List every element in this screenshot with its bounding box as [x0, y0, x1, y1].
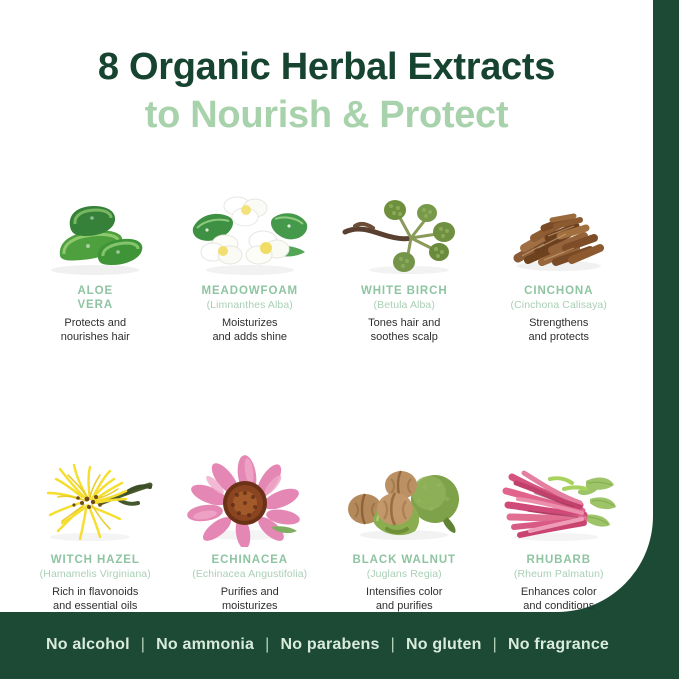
extract-name: BLACK WALNUT [353, 554, 456, 568]
extract-card-cinchona: CINCHONA (Cinchona Calisaya) Strengthens… [482, 186, 637, 344]
extract-latin-name: (Betula Alba) [374, 299, 435, 312]
extract-name: RHUBARB [527, 554, 591, 568]
extract-card-rhubarb: RHUBARB (Rheum Palmatun) Enhances color … [482, 455, 637, 613]
extract-name-line-2: VERA [77, 299, 113, 311]
extract-latin-name: (Limnanthes Alba) [207, 299, 293, 312]
extract-desc-line-2: and protects [528, 331, 589, 343]
extract-name: ALOE VERA [77, 285, 113, 312]
claim-separator: | [380, 636, 406, 654]
aloe-vera-icon [30, 186, 160, 278]
extract-desc-line-1: Rich in flavonoids [52, 586, 138, 598]
claim-no-fragrance: No fragrance [508, 636, 609, 654]
extracts-row-2: WITCH HAZEL (Hamamelis Virginiana) Rich … [18, 455, 636, 613]
title-line-2: to Nourish & Protect [0, 90, 653, 140]
claim-no-gluten: No gluten [406, 636, 482, 654]
extract-name: WHITE BIRCH [361, 285, 448, 299]
extract-desc-line-2: and adds shine [212, 331, 287, 343]
extract-name-line-1: BLACK WALNUT [353, 554, 456, 566]
black-walnut-icon [339, 455, 469, 547]
extract-desc-line-1: Enhances color [521, 586, 597, 598]
extract-desc-line-1: Tones hair and [368, 317, 440, 329]
extract-name-line-1: RHUBARB [527, 554, 591, 566]
extract-latin-name: (Echinacea Angustifolia) [192, 568, 307, 581]
witch-hazel-icon [30, 455, 160, 547]
extract-name-line-1: WITCH HAZEL [51, 554, 140, 566]
extract-card-echinacea: ECHINACEA (Echinacea Angustifolia) Purif… [173, 455, 328, 613]
extract-desc-line-2: nourishes hair [61, 331, 130, 343]
claim-separator: | [130, 636, 156, 654]
extract-desc-line-1: Strengthens [529, 317, 588, 329]
claim-no-alcohol: No alcohol [46, 636, 130, 654]
extract-card-white-birch: WHITE BIRCH (Betula Alba) Tones hair and… [327, 186, 482, 344]
extract-description: Moisturizes and adds shine [212, 316, 287, 344]
cinchona-bark-icon [494, 186, 624, 278]
extract-name: WITCH HAZEL [51, 554, 140, 568]
claim-no-parabens: No parabens [281, 636, 380, 654]
echinacea-icon [185, 455, 315, 547]
extract-card-black-walnut: BLACK WALNUT (Juglans Regia) Intensifies… [327, 455, 482, 613]
claim-separator: | [482, 636, 508, 654]
footer-claims-bar: No alcohol | No ammonia | No parabens | … [0, 610, 679, 679]
extract-description: Protects and nourishes hair [61, 316, 130, 344]
extract-description: Rich in flavonoids and essential oils [52, 585, 138, 613]
white-birch-icon [339, 186, 469, 278]
extract-card-meadowfoam: MEADOWFOAM (Limnanthes Alba) Moisturizes… [173, 186, 328, 344]
extract-description: Purifies and moisturizes [221, 585, 279, 613]
extract-description: Strengthens and protects [528, 316, 589, 344]
extract-name: MEADOWFOAM [201, 285, 298, 299]
infographic-poster: 8 Organic Herbal Extracts to Nourish & P… [0, 0, 679, 679]
extract-desc-line-2: soothes scalp [371, 331, 438, 343]
page-title: 8 Organic Herbal Extracts to Nourish & P… [0, 44, 653, 140]
footer-claims-list: No alcohol | No ammonia | No parabens | … [46, 636, 609, 654]
extract-card-witch-hazel: WITCH HAZEL (Hamamelis Virginiana) Rich … [18, 455, 173, 613]
extract-desc-line-1: Moisturizes [222, 317, 278, 329]
extract-name-line-1: ALOE [77, 285, 113, 297]
extracts-grid: ALOE VERA Protects and nourishes hair [18, 186, 636, 613]
extract-name: CINCHONA [524, 285, 593, 299]
extract-description: Intensifies color and purifies [366, 585, 442, 613]
extract-description: Enhances color and conditions [521, 585, 597, 613]
meadowfoam-flower-icon [185, 186, 315, 278]
extract-name-line-1: CINCHONA [524, 285, 593, 297]
extract-latin-name: (Hamamelis Virginiana) [40, 568, 151, 581]
extract-latin-name: (Cinchona Calisaya) [511, 299, 607, 312]
extract-latin-name: (Juglans Regia) [367, 568, 442, 581]
extract-name: ECHINACEA [212, 554, 288, 568]
extract-name-line-1: WHITE BIRCH [361, 285, 448, 297]
claim-no-ammonia: No ammonia [156, 636, 254, 654]
claim-separator: | [254, 636, 280, 654]
extract-desc-line-1: Purifies and [221, 586, 279, 598]
extracts-row-1: ALOE VERA Protects and nourishes hair [18, 186, 636, 344]
extract-latin-name: (Rheum Palmatun) [514, 568, 604, 581]
extract-desc-line-1: Protects and [64, 317, 126, 329]
extract-card-aloe-vera: ALOE VERA Protects and nourishes hair [18, 186, 173, 344]
extract-name-line-1: MEADOWFOAM [201, 285, 298, 297]
title-line-1: 8 Organic Herbal Extracts [0, 44, 653, 90]
extract-name-line-1: ECHINACEA [212, 554, 288, 566]
extract-description: Tones hair and soothes scalp [368, 316, 440, 344]
rhubarb-icon [494, 455, 624, 547]
extract-desc-line-1: Intensifies color [366, 586, 442, 598]
